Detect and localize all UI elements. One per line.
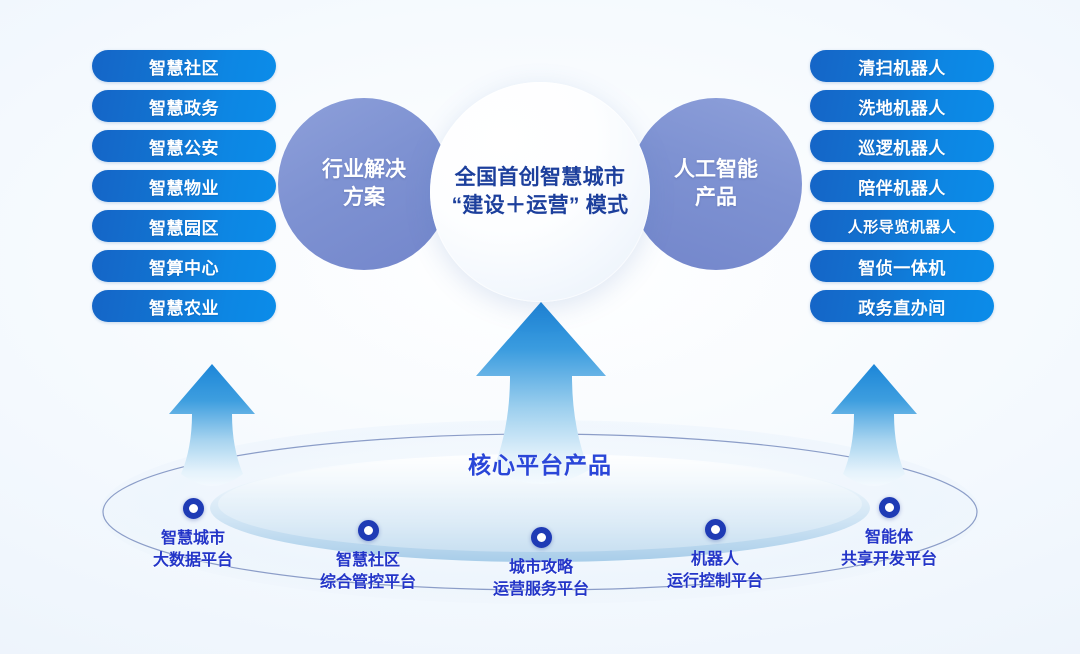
ai-product-pill-1[interactable]: 洗地机器人 <box>810 90 994 122</box>
pill-label: 人形导览机器人 <box>848 216 957 237</box>
ai-product-pill-3[interactable]: 陪伴机器人 <box>810 170 994 202</box>
ai-product-pill-6[interactable]: 政务直办间 <box>810 290 994 322</box>
pill-label: 智侦一体机 <box>858 254 946 279</box>
industry-solution-pill-6[interactable]: 智慧农业 <box>92 290 276 322</box>
circle-main-concept[interactable]: 全国首创智慧城市 “建设＋运营” 模式 <box>430 82 650 302</box>
platform-node-1[interactable]: 智慧社区 综合管控平台 <box>278 520 458 594</box>
circle-right-line1: 人工智能 <box>674 156 758 184</box>
ai-product-pill-2[interactable]: 巡逻机器人 <box>810 130 994 162</box>
platform-node-label: 智慧社区 综合管控平台 <box>320 550 416 594</box>
platform-node-dot-icon <box>531 527 552 548</box>
platform-node-label: 机器人 运行控制平台 <box>667 549 763 593</box>
industry-solution-pill-4[interactable]: 智慧园区 <box>92 210 276 242</box>
pill-label: 智算中心 <box>149 254 219 279</box>
pill-label: 智慧农业 <box>149 294 219 319</box>
industry-solution-pill-3[interactable]: 智慧物业 <box>92 170 276 202</box>
pill-label: 清扫机器人 <box>858 54 946 79</box>
industry-solution-pill-2[interactable]: 智慧公安 <box>92 130 276 162</box>
circle-center-line2: “建设＋运营” 模式 <box>452 192 629 220</box>
pill-label: 巡逻机器人 <box>858 134 946 159</box>
pill-label: 智慧园区 <box>149 214 219 239</box>
circle-ai-products[interactable]: 人工智能 产品 <box>630 98 802 270</box>
core-platform-label: 核心平台产品 <box>0 446 1080 480</box>
circle-right-line2: 产品 <box>674 184 758 212</box>
industry-solution-pill-1[interactable]: 智慧政务 <box>92 90 276 122</box>
ai-product-pill-0[interactable]: 清扫机器人 <box>810 50 994 82</box>
diagram-canvas: 核心平台产品 <box>0 0 1080 654</box>
industry-solution-pill-0[interactable]: 智慧社区 <box>92 50 276 82</box>
circle-left-line1: 行业解决 <box>322 156 406 184</box>
platform-node-dot-icon <box>705 519 726 540</box>
platform-node-label: 城市攻略 运营服务平台 <box>493 557 589 601</box>
pill-label: 智慧社区 <box>149 54 219 79</box>
platform-node-label: 智慧城市 大数据平台 <box>153 528 233 572</box>
platform-node-0[interactable]: 智慧城市 大数据平台 <box>103 498 283 572</box>
pill-label: 政务直办间 <box>858 294 946 319</box>
circle-center-line1: 全国首创智慧城市 <box>452 164 629 192</box>
pill-label: 智慧公安 <box>149 134 219 159</box>
ai-product-pill-4[interactable]: 人形导览机器人 <box>810 210 994 242</box>
pill-label: 洗地机器人 <box>858 94 946 119</box>
pill-label: 陪伴机器人 <box>858 174 946 199</box>
circle-left-line2: 方案 <box>322 184 406 212</box>
platform-node-dot-icon <box>879 497 900 518</box>
platform-node-3[interactable]: 机器人 运行控制平台 <box>625 519 805 593</box>
platform-node-4[interactable]: 智能体 共享开发平台 <box>799 497 979 571</box>
industry-solutions-list: 智慧社区智慧政务智慧公安智慧物业智慧园区智算中心智慧农业 <box>92 50 276 322</box>
industry-solution-pill-5[interactable]: 智算中心 <box>92 250 276 282</box>
ai-product-pill-5[interactable]: 智侦一体机 <box>810 250 994 282</box>
circle-industry-solutions[interactable]: 行业解决 方案 <box>278 98 450 270</box>
pill-label: 智慧物业 <box>149 174 219 199</box>
platform-node-dot-icon <box>183 498 204 519</box>
platform-node-2[interactable]: 城市攻略 运营服务平台 <box>451 527 631 601</box>
platform-node-dot-icon <box>358 520 379 541</box>
ai-products-list: 清扫机器人洗地机器人巡逻机器人陪伴机器人人形导览机器人智侦一体机政务直办间 <box>810 50 994 322</box>
pill-label: 智慧政务 <box>149 94 219 119</box>
platform-node-label: 智能体 共享开发平台 <box>841 527 937 571</box>
